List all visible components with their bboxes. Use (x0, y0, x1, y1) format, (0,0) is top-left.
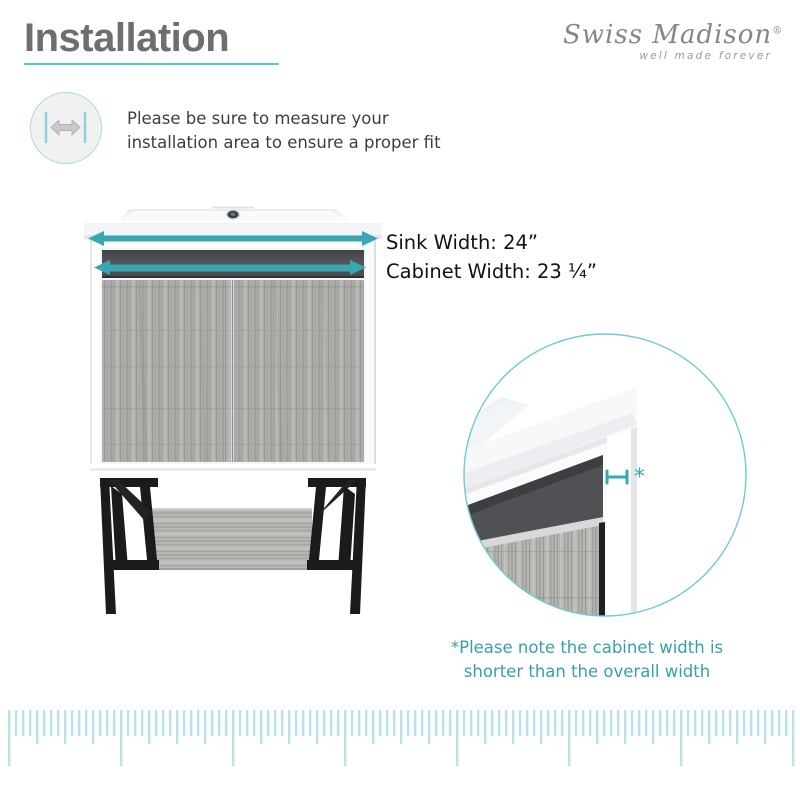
ruler-tick (463, 710, 465, 736)
ruler-tick (778, 710, 780, 736)
ruler-tick (540, 710, 542, 744)
ruler-tick (792, 710, 794, 766)
ruler-tick (428, 710, 430, 744)
dimension-labels: Sink Width: 24” Cabinet Width: 23 ¼” (386, 228, 597, 286)
measure-note-line1: Please be sure to measure your (127, 107, 441, 131)
ruler-tick (281, 710, 283, 736)
ruler-tick (169, 710, 171, 736)
ruler-tick (750, 710, 752, 736)
measure-note-line2: installation area to ensure a proper fit (127, 131, 441, 155)
ruler-tick (323, 710, 325, 736)
ruler-tick (120, 710, 122, 766)
ruler-tick (43, 710, 45, 736)
ruler-tick (218, 710, 220, 736)
ruler-tick (239, 710, 241, 736)
ruler-tick (176, 710, 178, 744)
ruler-tick (596, 710, 598, 744)
ruler-tick (351, 710, 353, 736)
ruler-tick (400, 710, 402, 744)
ruler-tick (106, 710, 108, 736)
ruler-tick (477, 710, 479, 736)
ruler-tick (470, 710, 472, 736)
ruler-tick (442, 710, 444, 736)
ruler-tick (456, 710, 458, 766)
ruler-tick (22, 710, 24, 736)
ruler-tick (645, 710, 647, 736)
ruler-tick (519, 710, 521, 736)
ruler-tick (610, 710, 612, 736)
ruler-tick (785, 710, 787, 736)
ruler-tick (190, 710, 192, 736)
ruler-tick (547, 710, 549, 736)
ruler-tick (554, 710, 556, 736)
ruler-tick (330, 710, 332, 736)
ruler-tick (715, 710, 717, 736)
ruler-tick (8, 710, 10, 766)
ruler-tick (211, 710, 213, 736)
ruler-tick (85, 710, 87, 736)
ruler-tick (386, 710, 388, 736)
ruler-tick (673, 710, 675, 736)
ruler-tick (568, 710, 570, 766)
overhang-asterisk: * (634, 465, 645, 490)
ruler-tick (764, 710, 766, 744)
ruler-tick (288, 710, 290, 744)
ruler-tick (295, 710, 297, 736)
ruler-tick (659, 710, 661, 736)
ruler-tick (631, 710, 633, 736)
footnote-line2: shorter than the overall width (432, 660, 742, 684)
ruler-tick (484, 710, 486, 744)
ruler-tick (141, 710, 143, 736)
ruler-tick (533, 710, 535, 736)
ruler-tick (92, 710, 94, 744)
ruler-tick (512, 710, 514, 744)
footnote-line1: *Please note the cabinet width is (432, 636, 742, 660)
ruler-tick (78, 710, 80, 736)
ruler-tick (225, 710, 227, 736)
ruler-tick (232, 710, 234, 766)
ruler-tick (64, 710, 66, 744)
ruler-tick (302, 710, 304, 736)
ruler-tick (617, 710, 619, 736)
ruler-tick (274, 710, 276, 736)
left-leg (100, 478, 159, 614)
ruler-tick (666, 710, 668, 736)
ruler-tick (127, 710, 129, 736)
brand-name-text: Swiss Madison (563, 20, 772, 50)
ruler-tick (162, 710, 164, 736)
ruler-tick (337, 710, 339, 736)
cabinet-width-footnote: *Please note the cabinet width is shorte… (432, 636, 742, 684)
ruler-tick (204, 710, 206, 744)
ruler-tick (155, 710, 157, 736)
cabinet-width-label: Cabinet Width: 23 ¼” (386, 257, 597, 286)
ruler-tick (491, 710, 493, 736)
ruler-decoration (0, 700, 800, 800)
registered-mark: ® (772, 25, 782, 36)
ruler-tick (638, 710, 640, 736)
ruler-tick (708, 710, 710, 744)
double-arrow-measure-icon (30, 92, 102, 164)
ruler-tick (246, 710, 248, 736)
ruler-tick (71, 710, 73, 736)
ruler-tick (407, 710, 409, 736)
ruler-tick (498, 710, 500, 736)
brand-logo: Swiss Madison® well made forever (563, 22, 778, 62)
ruler-tick (50, 710, 52, 736)
ruler-tick (267, 710, 269, 736)
ruler-tick (575, 710, 577, 736)
ruler-tick (253, 710, 255, 736)
page-title: Installation (24, 18, 229, 58)
ruler-tick (316, 710, 318, 744)
ruler-tick (729, 710, 731, 736)
ruler-tick (393, 710, 395, 736)
ruler-tick (449, 710, 451, 736)
ruler-tick (57, 710, 59, 736)
ruler-tick (722, 710, 724, 736)
ruler-tick (603, 710, 605, 736)
ruler-tick (589, 710, 591, 736)
ruler-tick (379, 710, 381, 736)
ruler-tick (113, 710, 115, 736)
ruler-tick (582, 710, 584, 736)
ruler-tick (372, 710, 374, 744)
sink-width-label: Sink Width: 24” (386, 228, 597, 257)
ruler-tick (414, 710, 416, 736)
ruler-tick (526, 710, 528, 736)
ruler-tick (701, 710, 703, 736)
ruler-tick (680, 710, 682, 766)
detail-zoom-circle: * (455, 325, 755, 625)
ruler-tick (344, 710, 346, 766)
ruler-tick (694, 710, 696, 736)
ruler-tick (365, 710, 367, 736)
title-underline (24, 63, 279, 65)
installation-guide-page: Installation Swiss Madison® well made fo… (0, 0, 800, 800)
ruler-tick (736, 710, 738, 744)
ruler-tick (624, 710, 626, 744)
ruler-tick (29, 710, 31, 736)
vanity-product-illustration (78, 190, 388, 620)
ruler-tick (358, 710, 360, 736)
ruler-tick (421, 710, 423, 736)
ruler-tick (260, 710, 262, 744)
ruler-tick (197, 710, 199, 736)
ruler-tick (561, 710, 563, 736)
ruler-tick (309, 710, 311, 736)
ruler-tick (687, 710, 689, 736)
brand-tagline: well made forever (563, 50, 772, 62)
ruler-tick (652, 710, 654, 744)
measure-note: Please be sure to measure your installat… (127, 107, 441, 155)
ruler-tick (36, 710, 38, 744)
ruler-tick (771, 710, 773, 736)
ruler-tick (757, 710, 759, 736)
ruler-tick (99, 710, 101, 736)
brand-name: Swiss Madison® (563, 22, 778, 48)
ruler-tick (15, 710, 17, 736)
ruler-tick (505, 710, 507, 736)
right-leg (307, 478, 366, 614)
ruler-tick (134, 710, 136, 736)
ruler-tick (743, 710, 745, 736)
ruler-tick (183, 710, 185, 736)
ruler-tick (148, 710, 150, 744)
ruler-tick (435, 710, 437, 736)
